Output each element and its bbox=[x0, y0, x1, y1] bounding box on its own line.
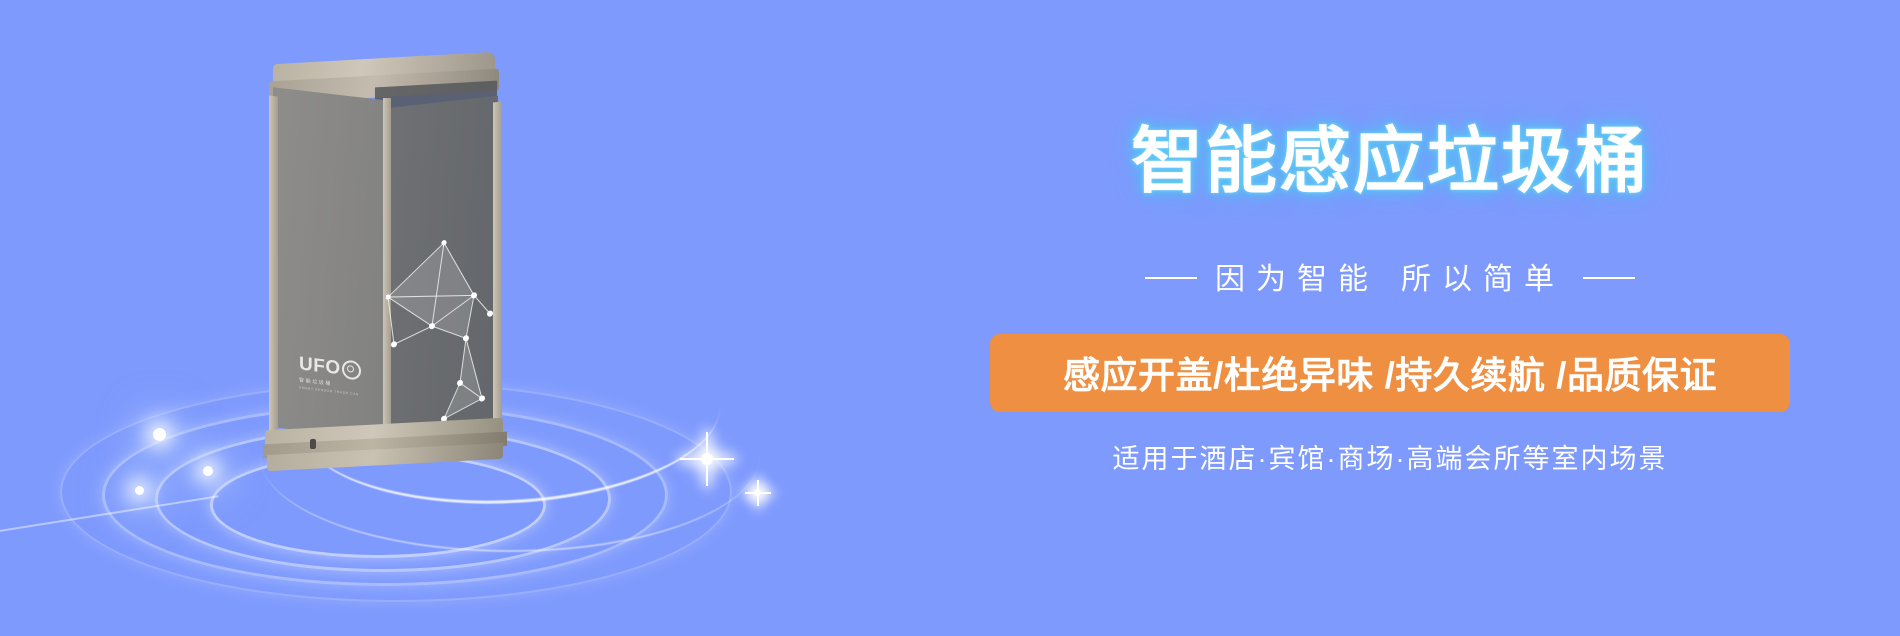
sparkle-star-icon bbox=[680, 432, 734, 486]
subheadline-dash-left bbox=[1145, 277, 1197, 279]
network-graphic-svg bbox=[386, 227, 498, 440]
brand-ring-icon bbox=[342, 359, 361, 380]
feature-pill: 感应开盖/杜绝异味 /持久续航 /品质保证 bbox=[990, 334, 1790, 412]
copy-block: 智能感应垃圾桶 因为智能所以简单 感应开盖/杜绝异味 /持久续航 /品质保证 适… bbox=[880, 0, 1900, 636]
subheadline-dash-right bbox=[1583, 277, 1635, 279]
glow-dot-icon bbox=[135, 486, 144, 495]
usage-scenarios-text: 适用于酒店·宾馆·商场·高端会所等室内场景 bbox=[890, 437, 1890, 476]
subheadline: 因为智能所以简单 bbox=[890, 254, 1890, 298]
product-stage: UFO 智能垃圾桶 SMART SENSOR TRASH CAN bbox=[0, 0, 880, 636]
brand-logo: UFO 智能垃圾桶 SMART SENSOR TRASH CAN bbox=[299, 354, 361, 396]
sparkle-core bbox=[701, 453, 713, 465]
promo-banner: UFO 智能垃圾桶 SMART SENSOR TRASH CAN 智能感应垃圾桶… bbox=[0, 0, 1900, 636]
headline: 智能感应垃圾桶 bbox=[890, 126, 1890, 198]
can-latch-icon bbox=[310, 439, 316, 449]
brand-logo-text: UFO bbox=[299, 354, 341, 378]
can-edge-left bbox=[269, 95, 278, 432]
product-trash-can-image: UFO 智能垃圾桶 SMART SENSOR TRASH CAN bbox=[255, 58, 515, 458]
subheadline-text-right: 所以简单 bbox=[1401, 263, 1565, 296]
sparkle-star-icon bbox=[745, 480, 771, 506]
glow-dot-icon bbox=[153, 428, 166, 441]
subheadline-text-left: 因为智能 bbox=[1215, 263, 1379, 296]
sparkle-core bbox=[754, 489, 761, 496]
glow-dot-icon bbox=[203, 466, 213, 476]
network-graphic bbox=[386, 227, 498, 440]
